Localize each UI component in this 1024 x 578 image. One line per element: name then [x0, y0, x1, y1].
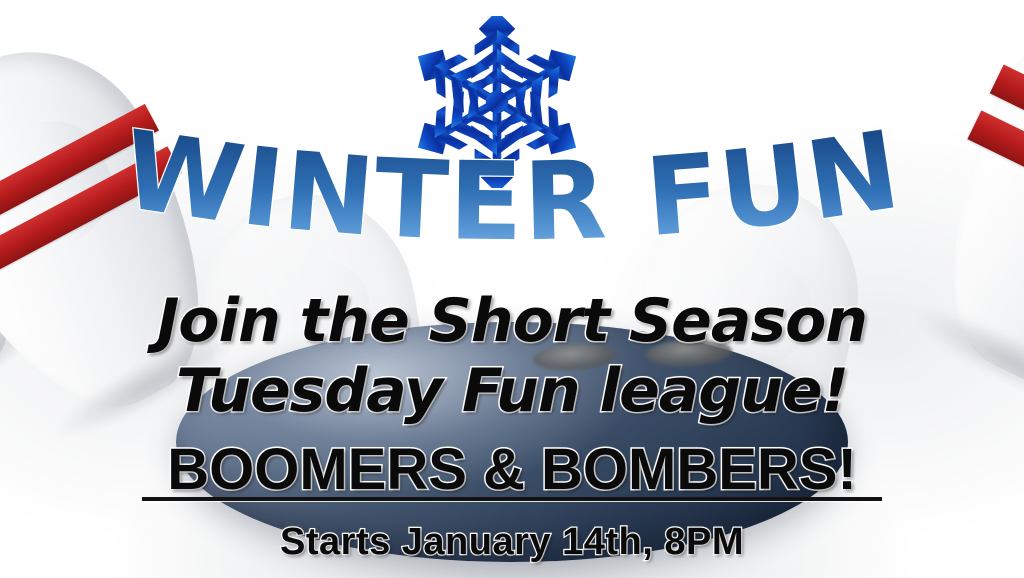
- tagline-tuesday-fun-league: Tuesday Fun league!: [0, 356, 1024, 426]
- snowflake-icon: [352, 16, 642, 188]
- tagline-join-short-season: Join the Short Season: [0, 286, 1024, 356]
- team-names-underline: [142, 497, 882, 501]
- winter-fun-poster: WINTER FUN Join the Short Season Tuesday…: [0, 0, 1024, 578]
- start-date-time: Starts January 14th, 8PM: [0, 521, 1024, 564]
- team-names: BOOMERS & BOMBERS!: [0, 436, 1024, 503]
